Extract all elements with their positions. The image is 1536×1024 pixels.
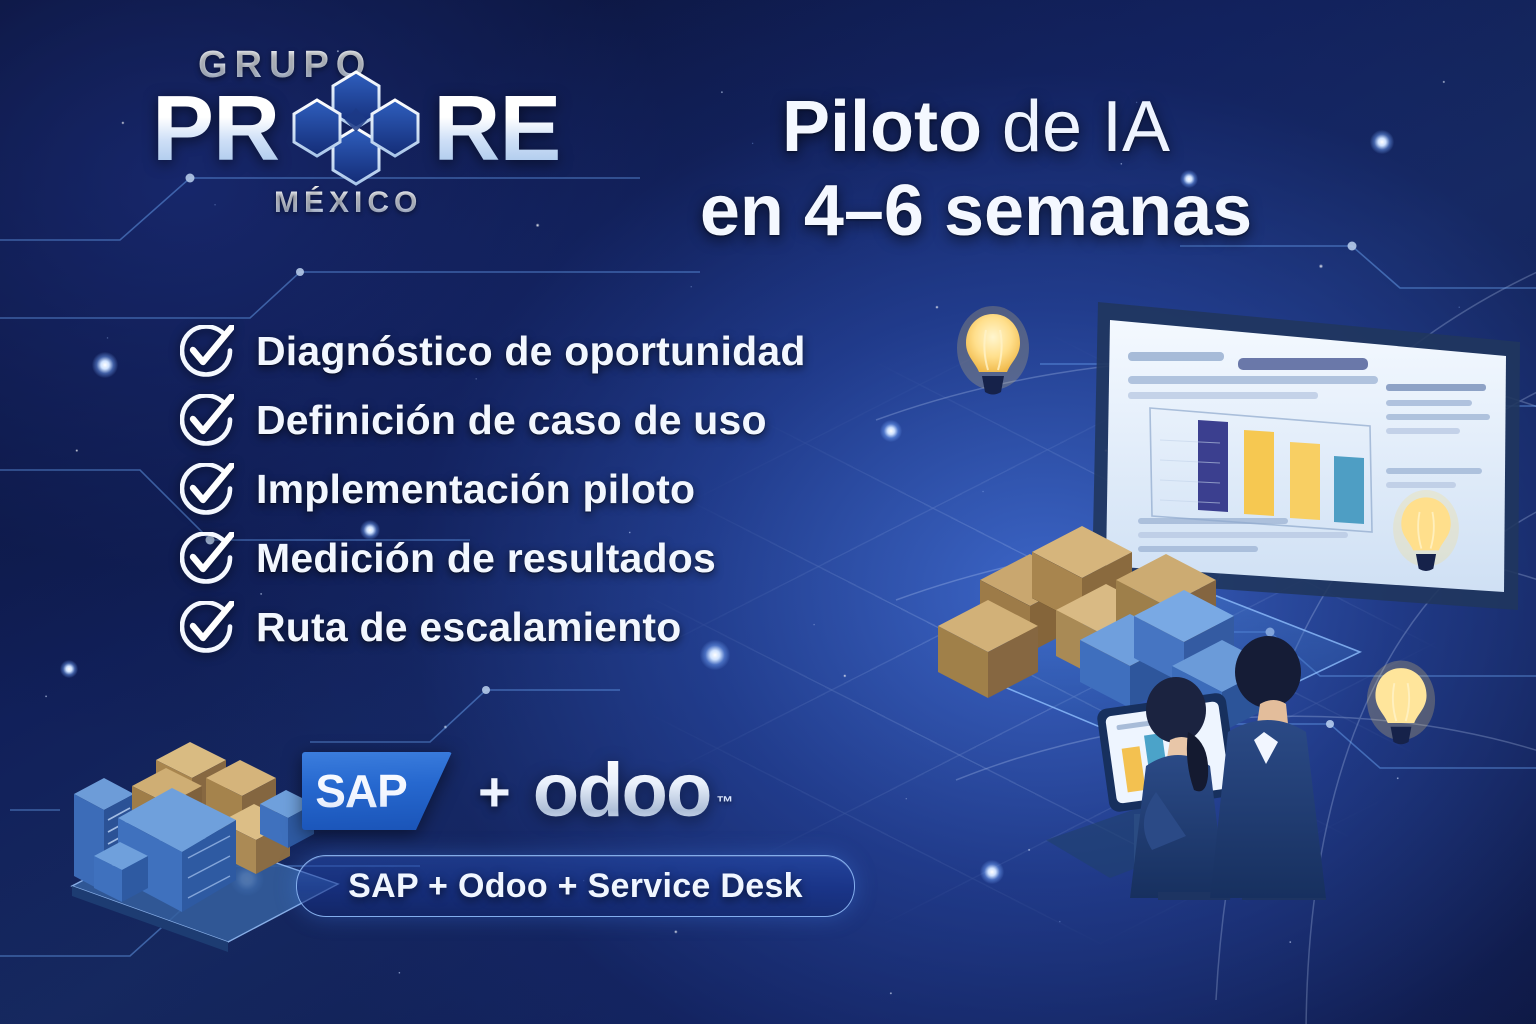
check-circle-icon	[180, 601, 234, 655]
headline-soft: de IA	[982, 87, 1170, 167]
check-circle-icon	[180, 325, 234, 379]
list-item-label: Diagnóstico de oportunidad	[256, 328, 806, 375]
logo-wordmark: PR	[152, 80, 560, 176]
stacked-boxes	[938, 526, 1272, 732]
brand-logo[interactable]: GRUPO PR	[152, 44, 572, 234]
logo-word-right: RE	[433, 82, 560, 175]
list-item-label: Implementación piloto	[256, 466, 695, 513]
lightbulb-icon	[956, 306, 1030, 400]
sap-logo-label: SAP	[302, 752, 420, 830]
trademark-symbol: ™	[716, 793, 733, 813]
status-badge-label: SAP + Odoo + Service Desk	[348, 867, 803, 906]
partner-logos: SAP + odoo ™	[302, 752, 733, 830]
bar-series	[1198, 420, 1364, 524]
poster-canvas: GRUPO PR	[0, 0, 1536, 1024]
list-item: Definición de caso de uso	[180, 387, 880, 454]
hexagon-cluster-icon	[281, 68, 431, 188]
headline-line-1: Piloto de IA	[656, 86, 1296, 170]
glow-star	[1370, 130, 1394, 154]
lightbulb-icon	[1392, 490, 1460, 576]
dashboard-screen	[1092, 302, 1520, 610]
glow-star	[92, 352, 118, 378]
businessman-figure	[1210, 636, 1329, 900]
feature-checklist: Diagnóstico de oportunidad Definición de…	[180, 318, 880, 663]
glow-star	[1460, 560, 1480, 580]
list-item-label: Medición de resultados	[256, 535, 716, 582]
lightbulb-icon	[1366, 660, 1436, 750]
check-circle-icon	[180, 463, 234, 517]
check-circle-icon	[180, 532, 234, 586]
business-dashboard-illustration	[920, 280, 1536, 900]
page-title: Piloto de IA en 4–6 semanas	[656, 86, 1296, 253]
platform-base	[940, 568, 1360, 750]
odoo-logo[interactable]: odoo ™	[533, 753, 734, 829]
sap-logo[interactable]: SAP	[302, 752, 452, 830]
globe-arc-lines	[836, 180, 1536, 1024]
headline-strong: Piloto	[782, 87, 982, 167]
logo-mexico-text: MÉXICO	[274, 186, 422, 220]
logo-word-left: PR	[152, 82, 279, 175]
list-item-label: Definición de caso de uso	[256, 397, 767, 444]
businesswoman-figure	[1130, 677, 1232, 900]
headline-line-2: en 4–6 semanas	[656, 170, 1296, 254]
check-circle-icon	[180, 394, 234, 448]
list-item: Diagnóstico de oportunidad	[180, 318, 880, 385]
kiosk-tablet	[1046, 692, 1239, 888]
plus-separator: +	[478, 759, 511, 824]
glow-star	[60, 660, 78, 678]
list-item: Medición de resultados	[180, 525, 880, 592]
status-badge[interactable]: SAP + Odoo + Service Desk	[296, 855, 855, 917]
odoo-logo-label: odoo	[533, 753, 711, 829]
glow-star	[980, 860, 1004, 884]
list-item-label: Ruta de escalamiento	[256, 604, 682, 651]
glow-star	[880, 420, 902, 442]
list-item: Ruta de escalamiento	[180, 594, 880, 661]
list-item: Implementación piloto	[180, 456, 880, 523]
glow-star	[230, 862, 264, 896]
